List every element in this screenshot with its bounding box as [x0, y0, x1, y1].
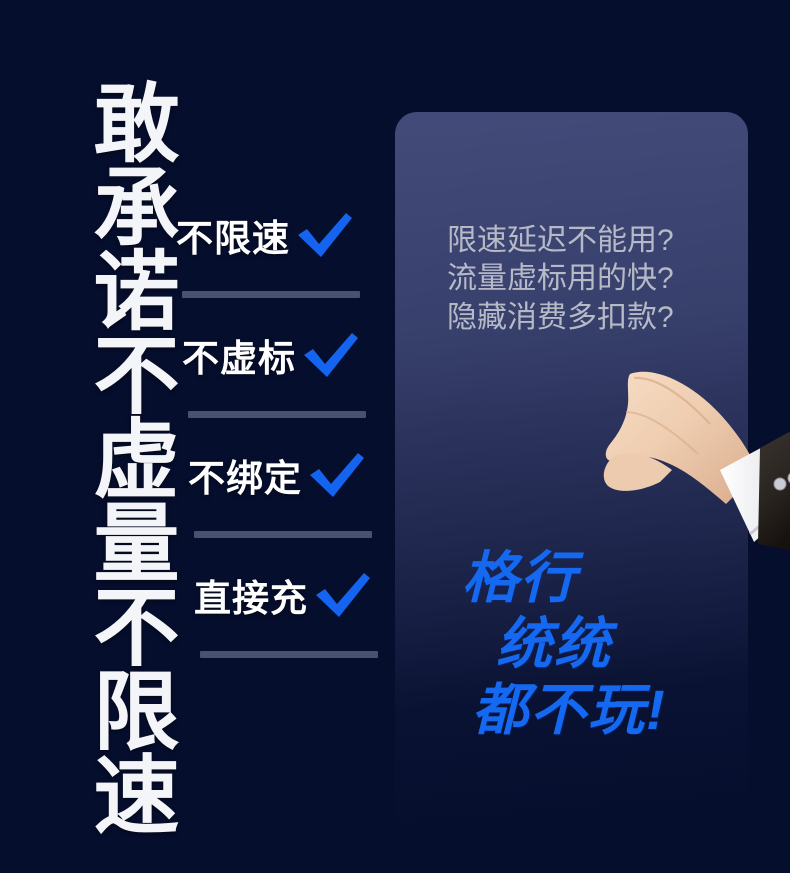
poster-root: 敢承诺不虚量不限速 不限速 不虚标 不绑定 — [0, 0, 790, 873]
feature-divider — [194, 531, 372, 538]
slogan-line-1: 格行 — [462, 545, 762, 611]
check-icon — [312, 571, 374, 619]
feature-checklist: 不限速 不虚标 不绑定 — [176, 196, 376, 676]
question-line: 隐藏消费多扣款? — [447, 299, 737, 337]
check-icon — [306, 451, 368, 499]
feature-label: 直接充 — [194, 568, 308, 622]
feature-item: 直接充 — [194, 556, 376, 676]
feature-divider — [188, 411, 366, 418]
feature-label: 不限速 — [176, 208, 290, 262]
feature-label: 不绑定 — [188, 448, 302, 502]
feature-divider — [182, 291, 360, 298]
slogan-block: 格行 统统 都不玩! — [462, 545, 762, 743]
feature-label: 不虚标 — [182, 328, 296, 382]
question-line: 限速延迟不能用? — [447, 222, 737, 260]
check-icon — [300, 331, 362, 379]
vertical-headline: 敢承诺不虚量不限速 — [58, 78, 168, 834]
feature-divider — [200, 651, 378, 658]
question-line: 流量虚标用的快? — [447, 260, 737, 298]
feature-item: 不绑定 — [188, 436, 376, 556]
question-block: 限速延迟不能用? 流量虚标用的快? 隐藏消费多扣款? — [447, 222, 737, 337]
check-icon — [294, 211, 356, 259]
feature-item: 不虚标 — [182, 316, 376, 436]
slogan-line-3: 都不玩! — [472, 677, 762, 743]
feature-item: 不限速 — [176, 196, 376, 316]
slogan-line-2: 统统 — [496, 611, 762, 677]
